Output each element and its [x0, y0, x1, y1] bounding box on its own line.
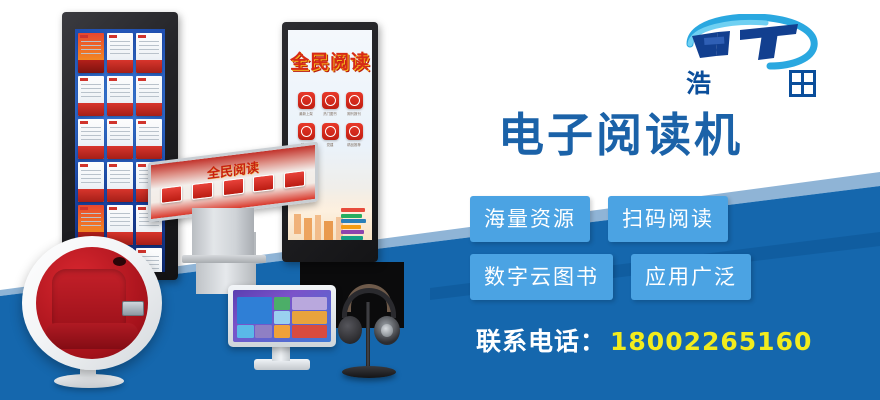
- chair-interior: [36, 247, 148, 359]
- horizontal-touch-table: 全民阅读: [148, 152, 318, 257]
- table-pedestal: [192, 208, 254, 258]
- kiosk-icon-cell: 热门图书: [321, 92, 339, 116]
- tile-app: [292, 311, 327, 324]
- kiosk-icon-label: 党建: [321, 142, 339, 147]
- contact-line: 联系电话：18002265160: [476, 322, 812, 358]
- tile-app: [237, 297, 272, 324]
- table-icon: [223, 178, 244, 197]
- feature-tag[interactable]: 应用广泛: [631, 254, 751, 300]
- chair-shell: [22, 236, 162, 370]
- tile-app: [255, 325, 272, 338]
- table-base: [182, 255, 266, 263]
- kiosk-icon-label: 精品推荐: [345, 142, 363, 147]
- book-cover: [107, 119, 133, 159]
- tile-app: [274, 297, 291, 310]
- kiosk-screen-title: 全民阅读: [288, 47, 372, 74]
- tablet-neck: [272, 345, 290, 361]
- headphone-earcup: [374, 316, 400, 345]
- kiosk-icon-cell: 期刊报刊: [345, 92, 363, 116]
- book-cover: [78, 119, 104, 159]
- product-photo-collage: 全民阅读 最新上架 热门图书 期刊报刊: [0, 0, 470, 400]
- contact-phone-number[interactable]: 18002265160: [610, 327, 812, 356]
- red-ball-listening-chair: [22, 236, 172, 386]
- kiosk-icon-grid: 最新上架 热门图书 期刊报刊 听书馆: [297, 92, 363, 147]
- book-cover: [107, 33, 133, 73]
- tile-app: [237, 325, 254, 338]
- page-title: 电子阅读机: [498, 112, 743, 158]
- chair-seat: [46, 323, 138, 349]
- stand-pole: [366, 302, 370, 370]
- chair-control-panel: [122, 301, 144, 316]
- stand-base: [342, 366, 396, 378]
- tile-app: [274, 311, 291, 324]
- book-cover: [107, 162, 133, 202]
- feature-tag[interactable]: 扫码阅读: [608, 196, 728, 242]
- speaker-icon: [113, 257, 126, 266]
- book-cover: [136, 33, 162, 73]
- kiosk-icon-label: 最新上架: [297, 111, 315, 116]
- feature-tag-row: 海量资源 扫码阅读: [470, 196, 810, 242]
- feature-tag-row: 数字云图书 应用广泛: [470, 254, 810, 300]
- ht-swoosh-logo: [674, 14, 826, 72]
- kiosk-icon-cell: 最新上架: [297, 92, 315, 116]
- kiosk-icon-cell: 精品推荐: [345, 123, 363, 147]
- logo-chinese-row: 浩: [686, 70, 816, 97]
- check-icon: [298, 123, 315, 140]
- table-icon: [161, 185, 182, 204]
- magazine-icon: [346, 92, 363, 109]
- feature-tag[interactable]: 数字云图书: [470, 254, 613, 300]
- desktop-touch-tablet: [228, 285, 336, 375]
- logo-chinese-right-glyph: [789, 70, 816, 97]
- feature-tag-group: 海量资源 扫码阅读 数字云图书 应用广泛: [470, 196, 810, 312]
- book-cover: [78, 33, 104, 73]
- headphone-earcup: [338, 316, 362, 344]
- tile-app: [292, 297, 327, 310]
- table-icon: [253, 174, 274, 193]
- logo-chinese-left: 浩: [686, 71, 711, 96]
- kiosk-icon-label: 热门图书: [321, 111, 339, 116]
- contact-label: 联系电话：: [476, 327, 606, 356]
- tablet-bezel: [228, 285, 336, 347]
- product-banner: 全民阅读 最新上架 热门图书 期刊报刊: [0, 0, 880, 400]
- kiosk-icon-cell: 党建: [321, 123, 339, 147]
- feature-tag[interactable]: 海量资源: [470, 196, 590, 242]
- book-cover: [136, 76, 162, 116]
- book-cover: [78, 76, 104, 116]
- company-logo: 浩: [674, 14, 826, 106]
- tile-app: [274, 325, 291, 338]
- tile-app: [292, 325, 327, 338]
- book-icon: [298, 92, 315, 109]
- party-emblem-icon: [322, 123, 339, 140]
- tablet-screen: [233, 290, 331, 342]
- chair-backrest: [52, 269, 126, 331]
- star-icon: [346, 123, 363, 140]
- table-icon: [284, 170, 305, 189]
- book-cover: [107, 76, 133, 116]
- table-icon: [192, 181, 213, 200]
- kiosk-icon-label: 期刊报刊: [345, 111, 363, 116]
- book-stack-illustration: [341, 208, 367, 238]
- headphone-stand: [338, 282, 400, 382]
- hot-icon: [322, 92, 339, 109]
- book-cover: [78, 162, 104, 202]
